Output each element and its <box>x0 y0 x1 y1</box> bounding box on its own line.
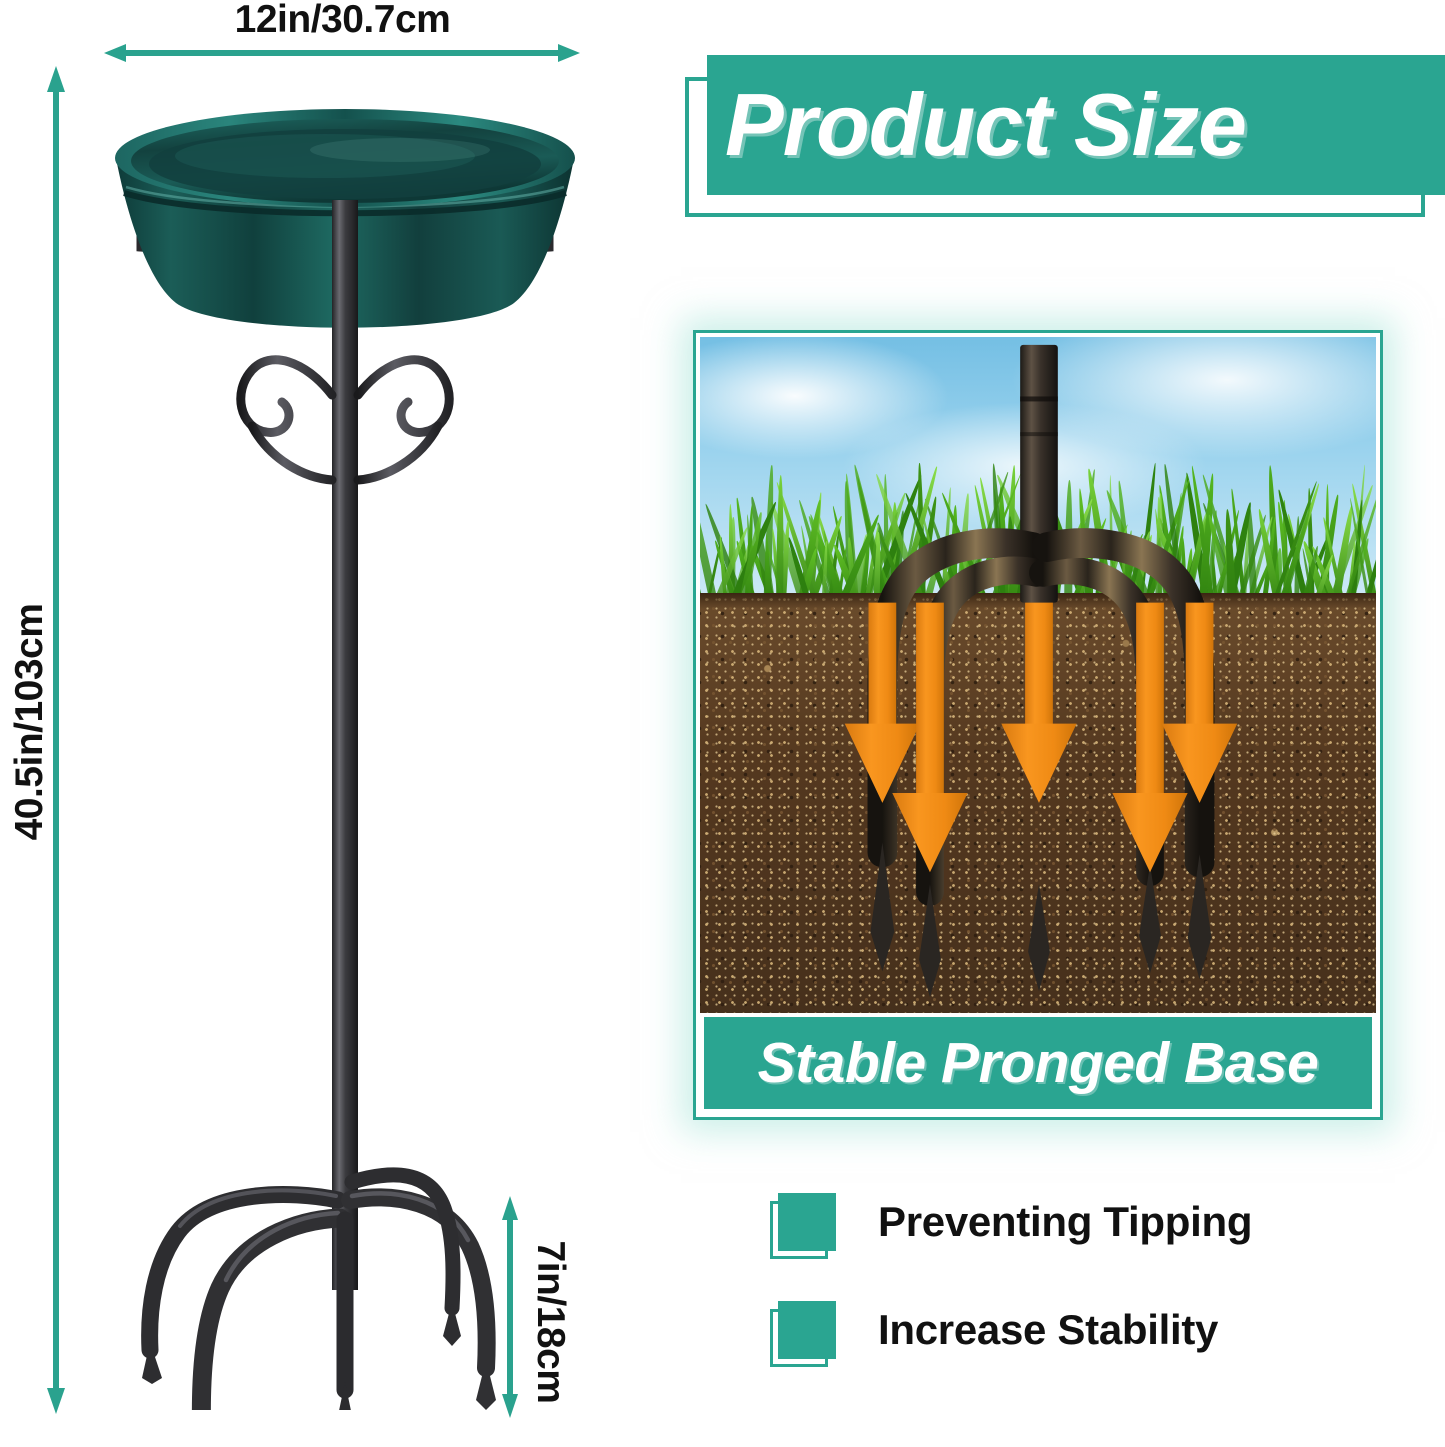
list-item: Increase Stability <box>770 1293 1430 1401</box>
feature-label: Preventing Tipping <box>878 1189 1252 1255</box>
feature-label: Increase Stability <box>878 1297 1218 1363</box>
height-dimension-label: 40.5in/103cm <box>8 402 52 1042</box>
width-dimension-label: 12in/30.7cm <box>105 0 580 40</box>
pronged-base-photo-panel: Stable Pronged Base <box>693 330 1383 1120</box>
page-title: Product Size <box>725 81 1246 169</box>
product-size-header: Product Size <box>685 55 1445 230</box>
bird-bath-product-illustration <box>100 60 590 1410</box>
bullet-fill-shape <box>778 1301 836 1359</box>
photo-caption-text: Stable Pronged Base <box>758 1035 1319 1092</box>
info-panel: Product Size <box>660 0 1445 1425</box>
list-item: Preventing Tipping <box>770 1185 1430 1293</box>
pronged-base-diagram <box>700 337 1376 1013</box>
square-bullet-icon <box>770 1301 836 1367</box>
dimension-drawing-panel: 12in/30.7cm 40.5in/103cm 7in/18cm <box>0 0 660 1425</box>
photo-caption-banner: Stable Pronged Base <box>700 1013 1376 1113</box>
bullet-fill-shape <box>778 1193 836 1251</box>
photo-scene: Stable Pronged Base <box>700 337 1376 1113</box>
feature-list: Preventing Tipping Increase Stability <box>770 1185 1430 1401</box>
square-bullet-icon <box>770 1193 836 1259</box>
header-fill-shape: Product Size <box>707 55 1445 195</box>
